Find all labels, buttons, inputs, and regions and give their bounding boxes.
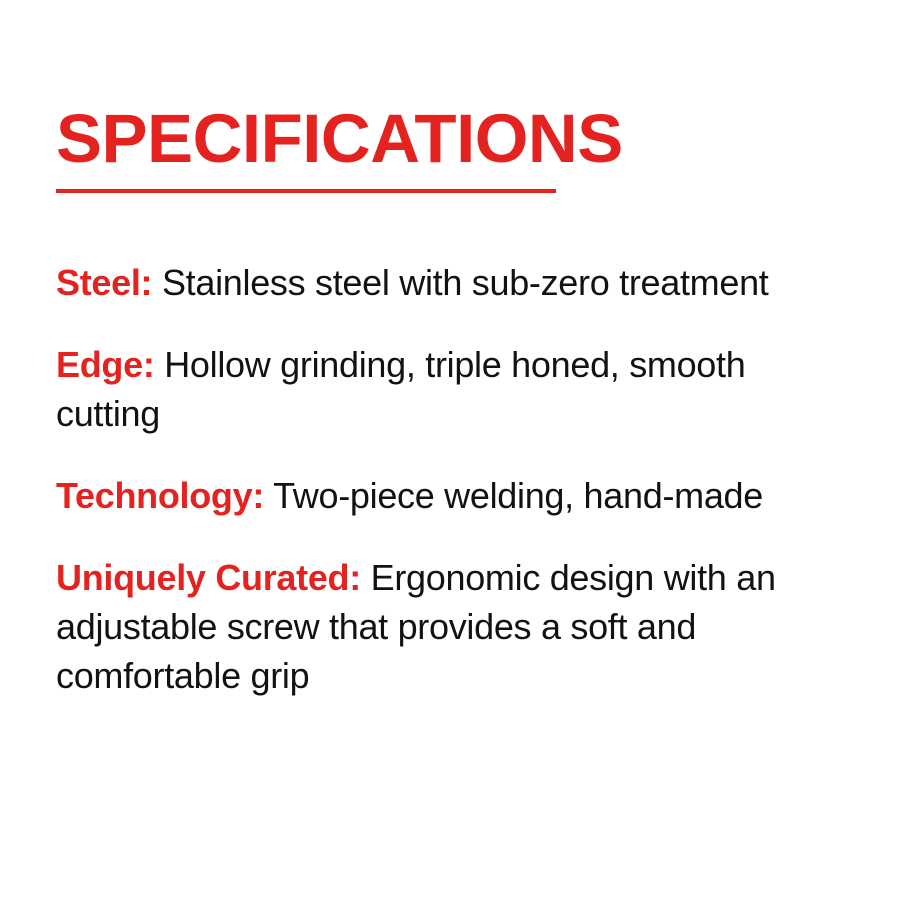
spec-item-uniquely-curated: Uniquely Curated: Ergonomic design with … — [56, 553, 846, 700]
spec-item-edge: Edge: Hollow grinding, triple honed, smo… — [56, 340, 846, 438]
spec-label-edge: Edge: — [56, 344, 155, 385]
spec-value-technology: Two-piece welding, hand-made — [273, 475, 763, 516]
spec-value-steel: Stainless steel with sub-zero treatment — [162, 262, 769, 303]
spec-value-edge: Hollow grinding, triple honed, smooth cu… — [56, 344, 745, 434]
title-block: SPECIFICATIONS — [56, 104, 856, 193]
page-title: SPECIFICATIONS — [56, 104, 856, 173]
title-underline-rule — [56, 189, 556, 193]
spec-label-steel: Steel: — [56, 262, 152, 303]
spec-label-technology: Technology: — [56, 475, 264, 516]
spec-label-uniquely-curated: Uniquely Curated: — [56, 557, 361, 598]
spec-item-technology: Technology: Two-piece welding, hand-made — [56, 471, 846, 520]
specifications-page: SPECIFICATIONS Steel: Stainless steel wi… — [0, 0, 900, 900]
specification-list: Steel: Stainless steel with sub-zero tre… — [56, 258, 856, 700]
spec-item-steel: Steel: Stainless steel with sub-zero tre… — [56, 258, 846, 307]
